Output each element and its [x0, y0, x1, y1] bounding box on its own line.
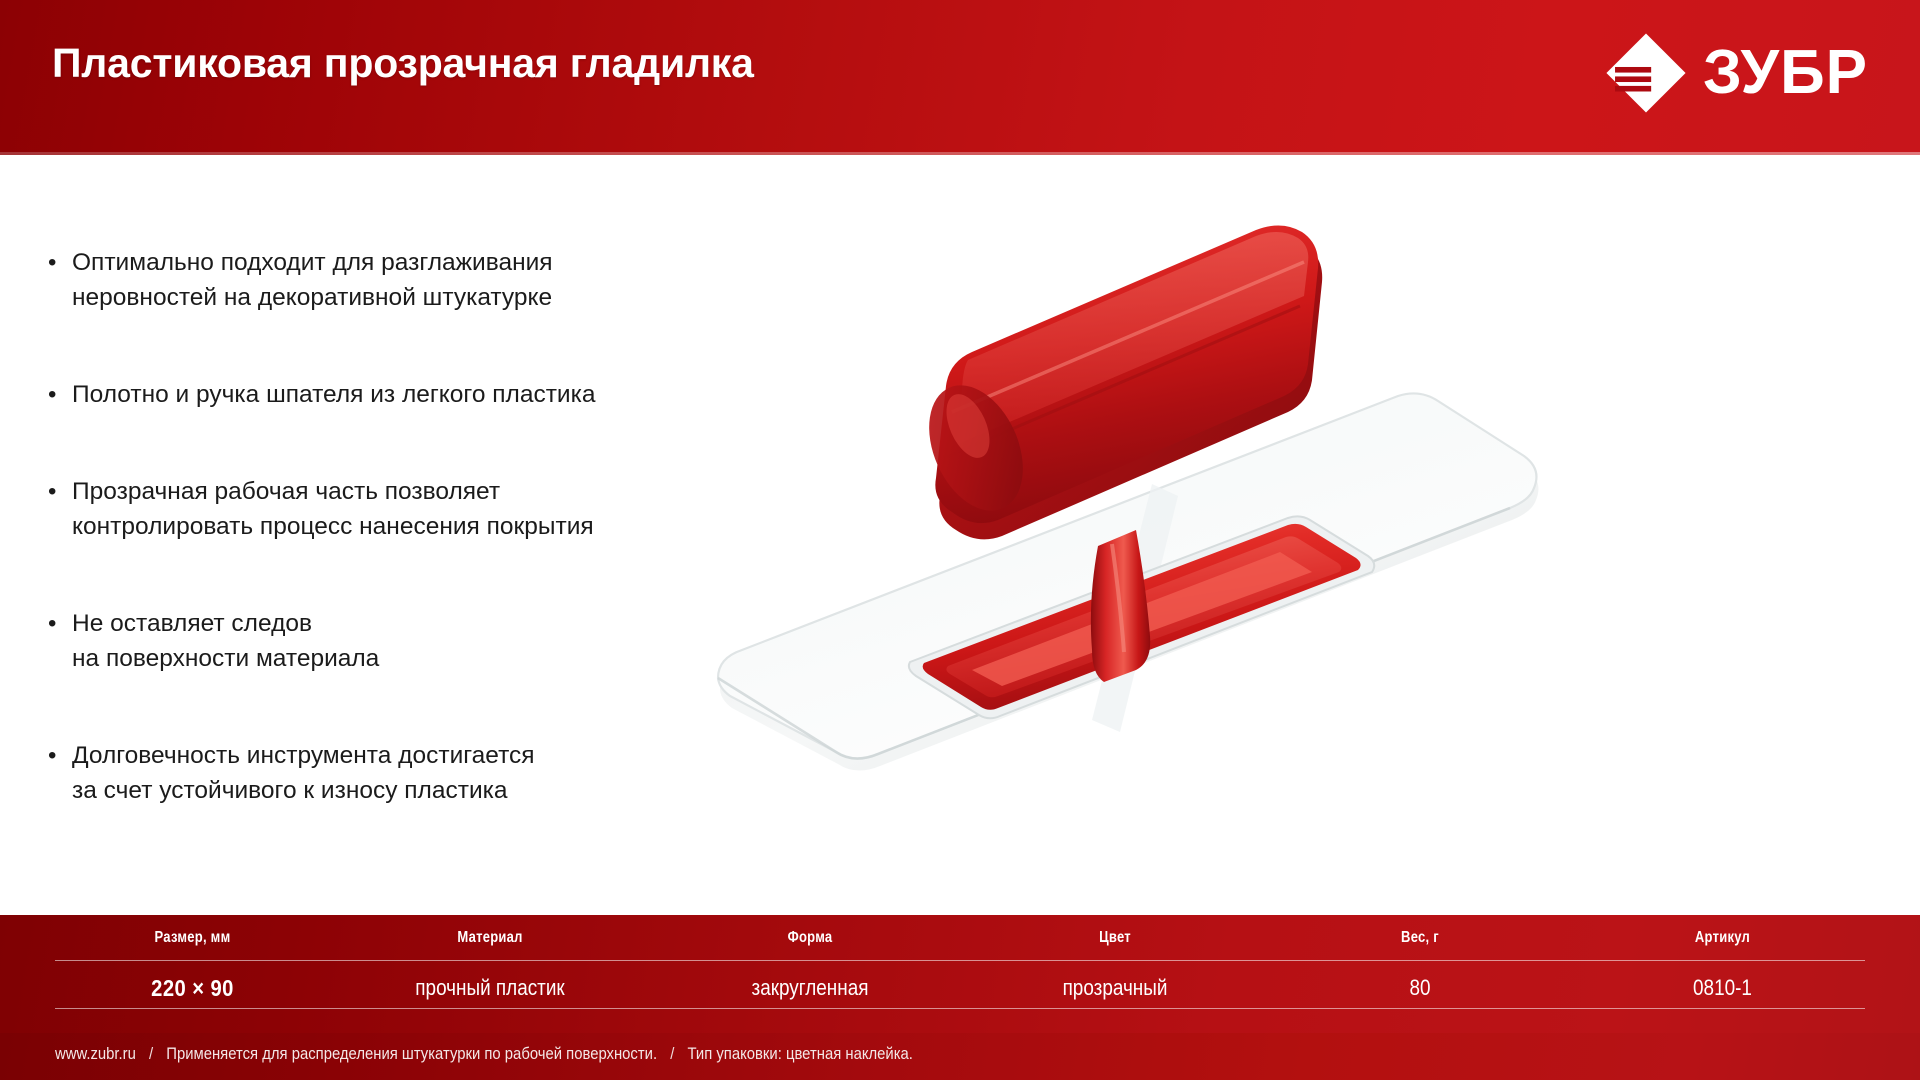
list-item: • Не оставляет следов на поверхности мат…: [46, 606, 706, 676]
footer-usage: Применяется для распределения штукатурки…: [166, 1045, 657, 1063]
column-header-shape: Форма: [676, 929, 945, 947]
list-item: • Оптимально подходит для разглаживания …: [46, 245, 706, 315]
column-header-material: Материал: [356, 929, 625, 947]
page-title: Пластиковая прозрачная гладилка: [52, 40, 754, 87]
bullet-icon: •: [46, 606, 72, 641]
column-header-weight: Вес, г: [1286, 929, 1555, 947]
feature-text: Полотно и ручка шпателя из легкого пласт…: [72, 377, 595, 412]
feature-text: Оптимально подходит для разглаживания не…: [72, 245, 553, 315]
list-item: • Полотно и ручка шпателя из легкого пла…: [46, 377, 706, 412]
column-header-color: Цвет: [993, 929, 1237, 947]
list-item: • Долговечность инструмента достигается …: [46, 738, 706, 808]
feature-text: Долговечность инструмента достигается за…: [72, 738, 535, 808]
brand-name: ЗУБР: [1703, 42, 1868, 104]
bullet-icon: •: [46, 245, 72, 280]
cell-color: прозрачный: [990, 975, 1239, 1002]
feature-list: • Оптимально подходит для разглаживания …: [46, 245, 706, 808]
footer-packaging: Тип упаковки: цветная наклейка.: [687, 1045, 912, 1063]
page-header: Пластиковая прозрачная гладилка ЗУБР: [0, 0, 1920, 155]
table-row: 220 × 90 прочный пластик закругленная пр…: [55, 975, 1865, 1002]
footer-site[interactable]: www.zubr.ru: [55, 1045, 136, 1063]
cell-article: 0810-1: [1600, 975, 1845, 1002]
footer-separator-1: /: [140, 1045, 162, 1063]
cell-weight: 80: [1282, 975, 1557, 1002]
feature-text: Прозрачная рабочая часть позволяет контр…: [72, 474, 594, 544]
footer-line: www.zubr.ru / Применяется для распределе…: [55, 1045, 913, 1064]
table-divider-top: [55, 960, 1865, 961]
bullet-icon: •: [46, 474, 72, 509]
cell-material: прочный пластик: [352, 975, 627, 1002]
zubr-diamond-arrow-icon: [1603, 30, 1689, 116]
product-image: [700, 200, 1560, 880]
column-header-article: Артикул: [1603, 929, 1842, 947]
cell-shape: закругленная: [672, 975, 947, 1002]
table-divider-bottom: [55, 1008, 1865, 1009]
spec-table: Размер, мм Материал Форма Цвет Вес, г Ар…: [0, 915, 1920, 1033]
footer-separator-2: /: [661, 1045, 683, 1063]
bullet-icon: •: [46, 377, 72, 412]
bullet-icon: •: [46, 738, 72, 773]
list-item: • Прозрачная рабочая часть позволяет кон…: [46, 474, 706, 544]
brand-logo: ЗУБР: [1603, 30, 1868, 116]
column-header-size: Размер, мм: [77, 929, 308, 947]
page-footer: www.zubr.ru / Применяется для распределе…: [0, 1033, 1920, 1080]
cell-size: 220 × 90: [74, 975, 311, 1002]
feature-text: Не оставляет следов на поверхности матер…: [72, 606, 379, 676]
table-header-row: Размер, мм Материал Форма Цвет Вес, г Ар…: [55, 929, 1865, 947]
